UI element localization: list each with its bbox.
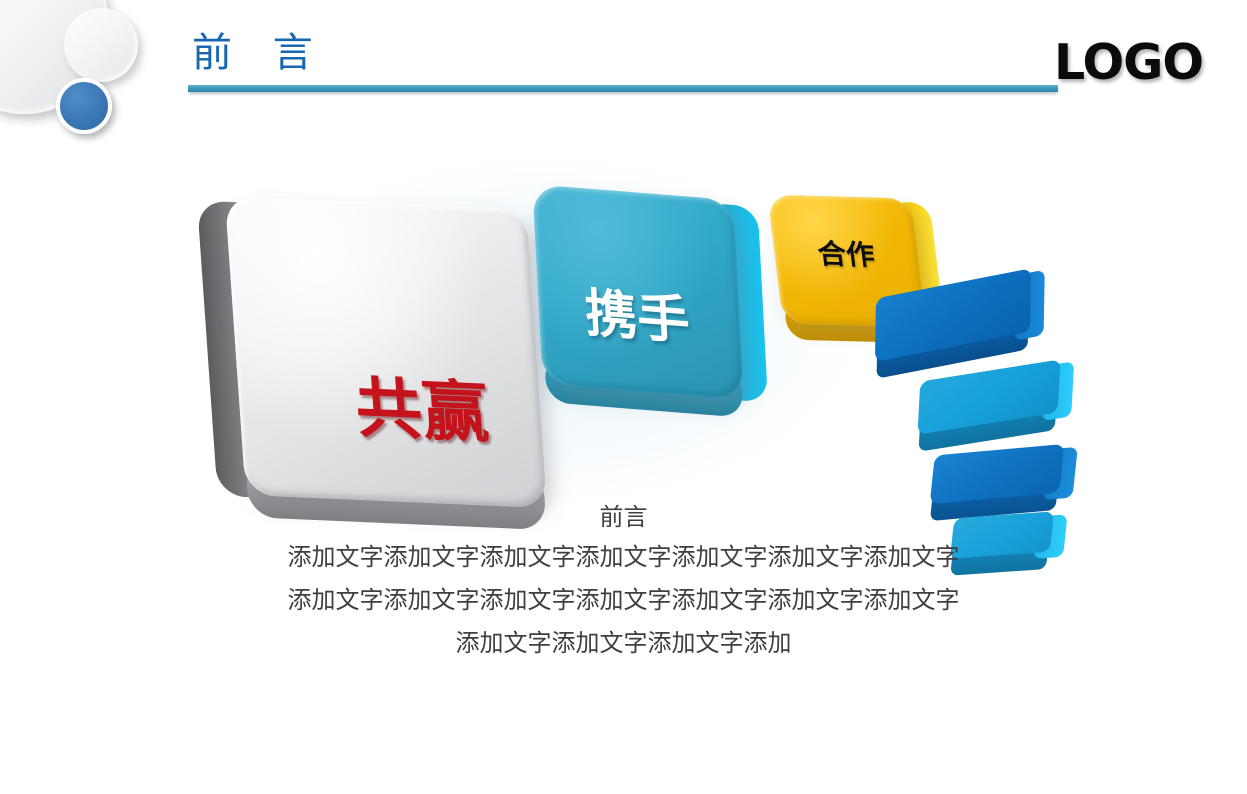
body-copy: 前言 添加文字添加文字添加文字添加文字添加文字添加文字添加文字 添加文字添加文字… [0,498,1247,665]
tile-yellow-label: 合作 [815,232,876,273]
body-line-2: 添加文字添加文字添加文字添加文字添加文字添加文字添加文字 [0,579,1247,622]
body-lead-text: 前言 [0,498,1247,536]
stacked-bar-2 [917,359,1060,434]
decorative-circle-accent-icon [56,78,112,134]
tile-silver-label: 共赢 [352,354,491,456]
page-title: 前 言 [192,33,327,73]
tile-teal-label: 携手 [583,270,692,353]
tile-teal: 携手 [532,184,744,400]
decorative-circle-medium-icon [64,8,138,82]
stacked-bar-3 [930,444,1065,504]
tile-silver: 共赢 [225,196,548,508]
body-line-1: 添加文字添加文字添加文字添加文字添加文字添加文字添加文字 [0,536,1247,579]
slide-canvas: 前 言 LOGO 共赢 携手 合作 [0,0,1247,794]
body-line-3: 添加文字添加文字添加文字添加 [0,622,1247,665]
decorative-circle-large-icon [0,0,110,114]
logo-text: LOGO [1054,38,1203,87]
header-divider [188,85,1058,92]
decorative-circles-group [0,0,168,142]
tile-silver-front-face [225,196,548,508]
